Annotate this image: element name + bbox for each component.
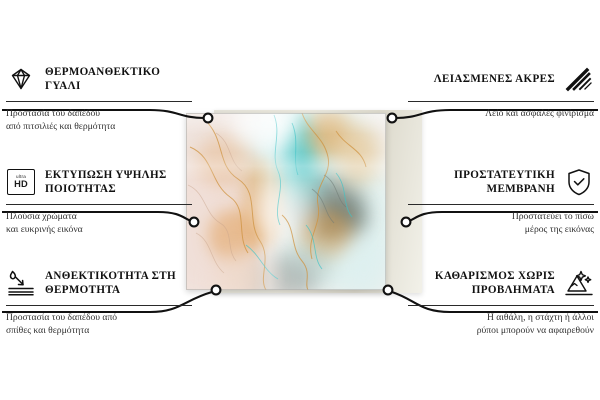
feature-heading: ultra HD ΕΚΤΥΠΩΣΗ ΥΨΗΛΗΣ ΠΟΙΟΤΗΤΑΣ: [6, 165, 192, 199]
feature-subtitle: Προστατεύει το πίσωμέρος της εικόνας: [408, 210, 594, 236]
feature-subtitle: Προστασία του δαπέδουαπό πιτσιλιές και θ…: [6, 107, 192, 133]
divider: [6, 305, 192, 306]
polished-edges-icon: [564, 64, 594, 94]
easy-clean-sparkle-icon: [564, 268, 594, 298]
feature-title: ΠΡΟΣΤΑΤΕΥΤΙΚΗ ΜΕΜΒΡΑΝΗ: [408, 168, 555, 196]
marble-artwork: [186, 113, 386, 290]
feature-block-protective-membrane: ΠΡΟΣΤΑΤΕΥΤΙΚΗ ΜΕΜΒΡΑΝΗ Προστατεύει το πί…: [408, 165, 594, 236]
divider: [6, 204, 192, 205]
feature-title: ΕΚΤΥΠΩΣΗ ΥΨΗΛΗΣ ΠΟΙΟΤΗΤΑΣ: [45, 168, 192, 196]
infographic-stage: ΘΕΡΜΟΑΝΘΕΚΤΙΚΟ ΓΥΑΛΙ Προστασία του δαπέδ…: [0, 0, 600, 400]
feature-heading: ΘΕΡΜΟΑΝΘΕΚΤΙΚΟ ΓΥΑΛΙ: [6, 62, 192, 96]
feature-subtitle: Προστασία του δαπέδου απόσπίθες και θερμ…: [6, 311, 192, 337]
ultra-hd-icon: ultra HD: [6, 167, 36, 197]
shield-check-icon: [564, 167, 594, 197]
feature-block-heat-durability: ΑΝΘΕΚΤΙΚΟΤΗΤΑ ΣΤΗ ΘΕΡΜΟΤΗΤΑ Προστασία το…: [6, 266, 192, 337]
feature-heading: ΛΕΙΑΣΜΕΝΕΣ ΑΚΡΕΣ: [408, 62, 594, 96]
feature-block-polished-edges: ΛΕΙΑΣΜΕΝΕΣ ΑΚΡΕΣ Λείο και ασφαλές φινίρι…: [408, 62, 594, 120]
feature-heading: ΑΝΘΕΚΤΙΚΟΤΗΤΑ ΣΤΗ ΘΕΡΜΟΤΗΤΑ: [6, 266, 192, 300]
feature-block-high-quality-print: ultra HD ΕΚΤΥΠΩΣΗ ΥΨΗΛΗΣ ΠΟΙΟΤΗΤΑΣ Πλούσ…: [6, 165, 192, 236]
feature-title: ΘΕΡΜΟΑΝΘΕΚΤΙΚΟ ΓΥΑΛΙ: [45, 65, 192, 93]
divider: [408, 204, 594, 205]
feature-block-heat-resistant-glass: ΘΕΡΜΟΑΝΘΕΚΤΙΚΟ ΓΥΑΛΙ Προστασία του δαπέδ…: [6, 62, 192, 133]
heat-resistance-icon: [6, 268, 36, 298]
feature-subtitle: Πλούσια χρώματακαι ευκρινής εικόνα: [6, 210, 192, 236]
divider: [6, 101, 192, 102]
divider: [408, 305, 594, 306]
panel-front-face: [186, 113, 386, 290]
feature-heading: ΚΑΘΑΡΙΣΜΟΣ ΧΩΡΙΣ ΠΡΟΒΛΗΜΑΤΑ: [408, 266, 594, 300]
diamond-icon: [6, 64, 36, 94]
feature-title: ΚΑΘΑΡΙΣΜΟΣ ΧΩΡΙΣ ΠΡΟΒΛΗΜΑΤΑ: [408, 269, 555, 297]
feature-block-easy-cleaning: ΚΑΘΑΡΙΣΜΟΣ ΧΩΡΙΣ ΠΡΟΒΛΗΜΑΤΑ Η αιθάλη, η …: [408, 266, 594, 337]
feature-heading: ΠΡΟΣΤΑΤΕΥΤΙΚΗ ΜΕΜΒΡΑΝΗ: [408, 165, 594, 199]
product-image: [186, 110, 422, 293]
feature-subtitle: Λείο και ασφαλές φινίρισμα: [408, 107, 594, 120]
feature-subtitle: Η αιθάλη, η στάχτη ή άλλοιρύποι μπορούν …: [408, 311, 594, 337]
feature-title: ΛΕΙΑΣΜΕΝΕΣ ΑΚΡΕΣ: [434, 72, 555, 86]
feature-title: ΑΝΘΕΚΤΙΚΟΤΗΤΑ ΣΤΗ ΘΕΡΜΟΤΗΤΑ: [45, 269, 192, 297]
divider: [408, 101, 594, 102]
